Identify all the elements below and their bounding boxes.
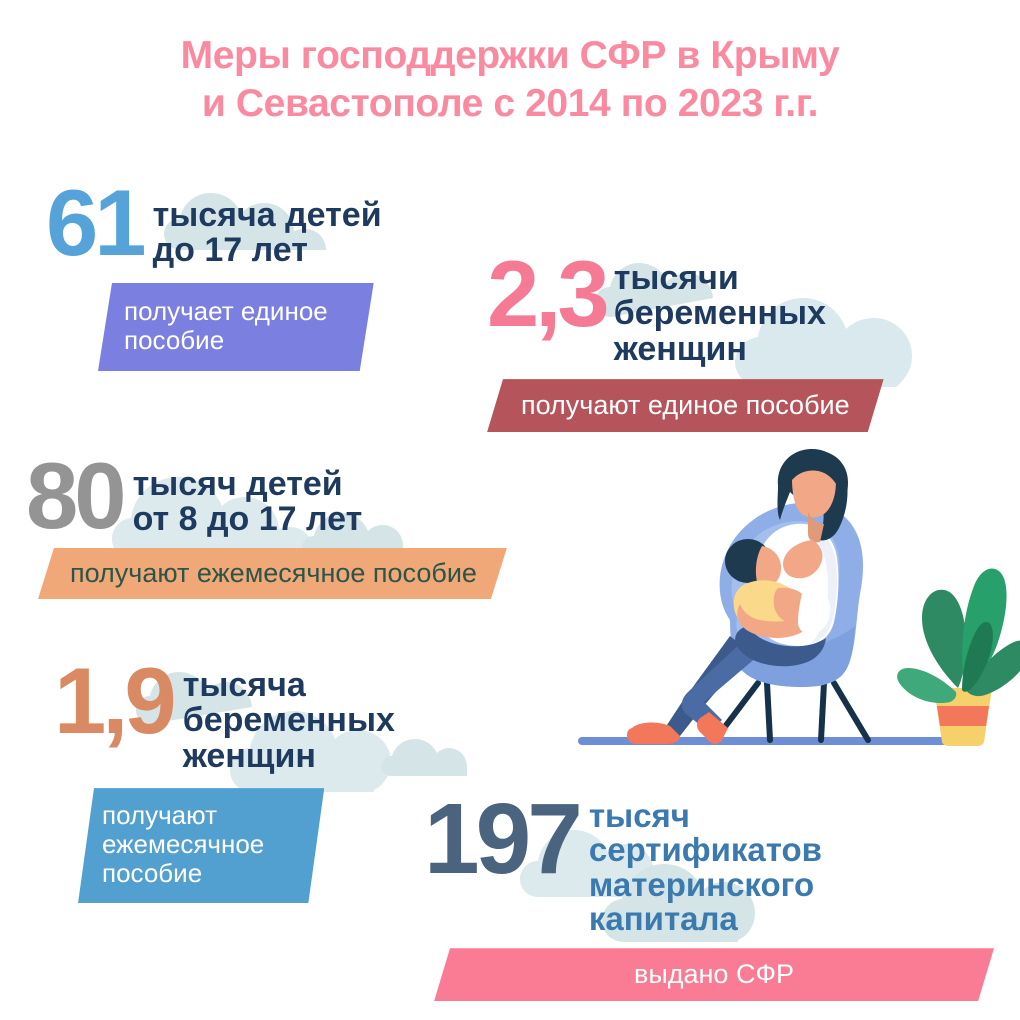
stat-label: тысячи беременных женщин bbox=[614, 261, 826, 367]
plant-pot-stripe bbox=[937, 706, 989, 726]
stat-headline: 80 тысяч детей от 8 до 17 лет bbox=[26, 455, 507, 538]
stat-label-line-1: тысяч bbox=[589, 799, 822, 833]
stat-banner: получают единое пособие bbox=[487, 379, 884, 432]
stat-headline: 2,3 тысячи беременных женщин bbox=[487, 253, 884, 367]
stat-number: 80 bbox=[26, 455, 123, 538]
stat-label-line-2: сертификатов bbox=[589, 833, 822, 867]
stat-number: 197 bbox=[424, 795, 579, 883]
stat-block-61: 61 тысяча детей до 17 лет получает едино… bbox=[46, 182, 382, 371]
stat-label-line-4: капитала bbox=[589, 902, 822, 936]
infographic-canvas: Меры господдержки СФР в Крыму и Севастоп… bbox=[0, 0, 1020, 1020]
stat-banner-line-1: получают ежемесячное пособие bbox=[70, 558, 477, 588]
stat-label: тысяча детей до 17 лет bbox=[153, 198, 382, 269]
stat-label-line-2: беременных bbox=[183, 703, 395, 738]
title-line-1: Меры господдержки СФР в Крыму bbox=[0, 32, 1020, 80]
stat-banner: получает единое пособие bbox=[98, 283, 374, 371]
stat-label-line-2: от 8 до 17 лет bbox=[133, 502, 363, 537]
stat-label-line-3: женщин bbox=[614, 332, 826, 367]
stat-headline: 61 тысяча детей до 17 лет bbox=[46, 182, 382, 269]
stat-label-line-3: женщин bbox=[183, 739, 395, 774]
stat-label-line-2: до 17 лет bbox=[153, 233, 382, 268]
stat-banner-line-2: пособие bbox=[124, 326, 328, 355]
stat-headline: 197 тысяч сертификатов материнского капи… bbox=[424, 795, 994, 936]
stat-block-197: 197 тысяч сертификатов материнского капи… bbox=[424, 795, 994, 1001]
page-title: Меры господдержки СФР в Крыму и Севастоп… bbox=[0, 32, 1020, 127]
stat-label: тысяча беременных женщин bbox=[183, 668, 395, 774]
stat-banner: получают ежемесячное пособие bbox=[78, 788, 324, 903]
plant-leaves bbox=[897, 568, 1020, 703]
stat-label-line-3: материнского bbox=[589, 868, 822, 902]
title-line-2: и Севастополе с 2014 по 2023 г.г. bbox=[0, 80, 1020, 128]
stat-label: тысяч сертификатов материнского капитала bbox=[589, 799, 822, 936]
stat-label-line-1: тысяча детей bbox=[153, 198, 382, 233]
mother-with-baby-illustration-icon bbox=[562, 440, 1020, 780]
stat-banner-line-1: получает единое bbox=[124, 297, 328, 326]
stat-banner-line-1: получают bbox=[102, 801, 264, 830]
stat-banner: выдано СФР bbox=[434, 948, 994, 1001]
stat-banner: получают ежемесячное пособие bbox=[38, 548, 507, 599]
stat-label-line-2: беременных bbox=[614, 296, 826, 331]
stat-block-80: 80 тысяч детей от 8 до 17 лет получают е… bbox=[26, 455, 507, 599]
stat-block-1-9: 1,9 тысяча беременных женщин получают еж… bbox=[54, 660, 395, 903]
stat-label-line-1: тысячи bbox=[614, 261, 826, 296]
stat-banner-line-1: выдано СФР bbox=[468, 959, 960, 989]
stat-number: 2,3 bbox=[487, 253, 606, 336]
chair-legs bbox=[715, 683, 868, 740]
stat-number: 61 bbox=[46, 182, 143, 265]
stat-headline: 1,9 тысяча беременных женщин bbox=[54, 660, 395, 774]
stat-label-line-1: тысяч детей bbox=[133, 467, 363, 502]
stat-label: тысяч детей от 8 до 17 лет bbox=[133, 467, 363, 538]
stat-block-2-3: 2,3 тысячи беременных женщин получают ед… bbox=[487, 253, 884, 432]
stat-label-line-1: тысяча bbox=[183, 668, 395, 703]
stat-banner-line-1: получают единое пособие bbox=[521, 390, 850, 420]
stat-banner-line-3: пособие bbox=[102, 859, 264, 888]
stat-number: 1,9 bbox=[54, 660, 173, 743]
stat-banner-line-2: ежемесячное bbox=[102, 830, 264, 859]
